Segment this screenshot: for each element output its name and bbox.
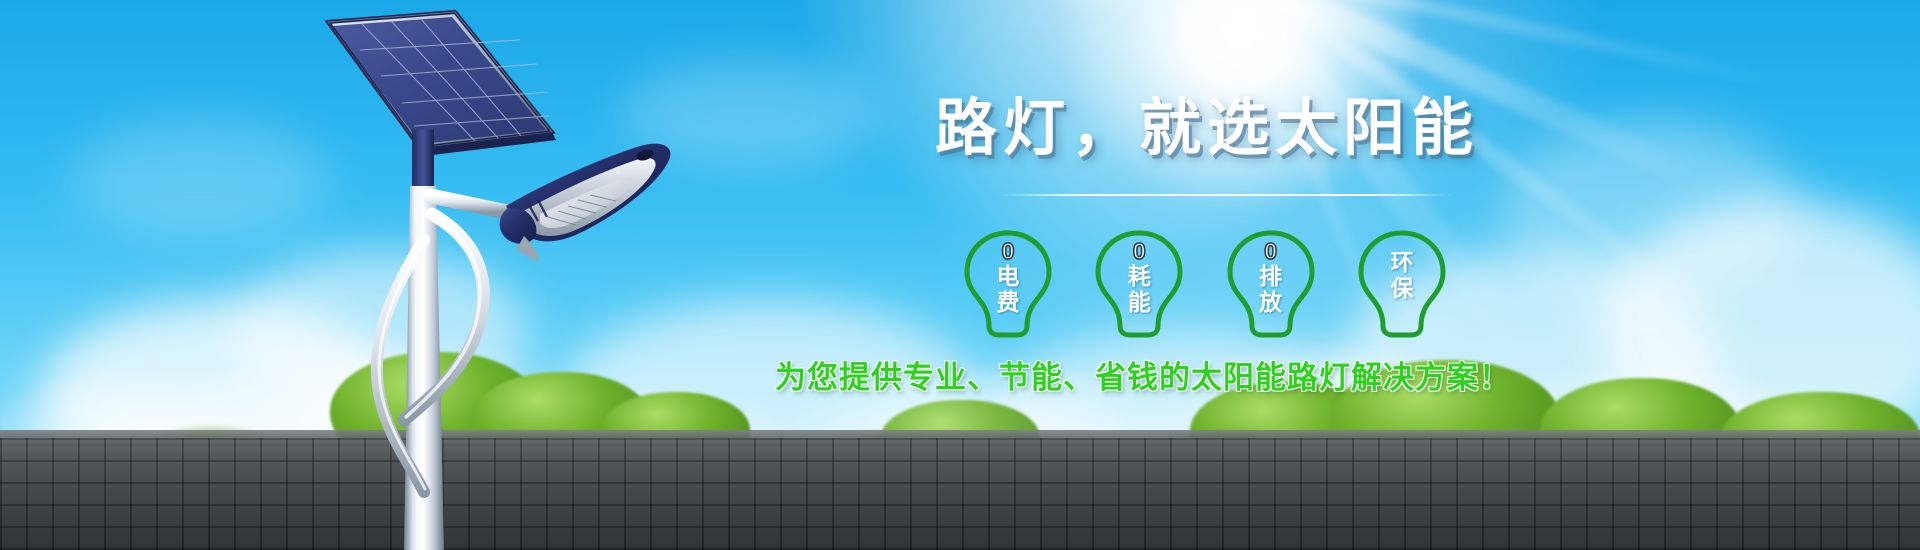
tagline: 为您提供专业、节能、省钱的太阳能路灯解决方案！ — [775, 352, 1511, 397]
page-title: 路灯，就选太阳能 — [935, 98, 1479, 160]
panel-mast — [412, 130, 434, 192]
led-lamp-head — [500, 144, 671, 262]
feature-bulb-list: 0 电 费 0 耗 能 0 排 放 — [955, 228, 1455, 338]
feature-bulb-zero-emission[interactable]: 0 排 放 — [1218, 228, 1324, 338]
solar-panel — [328, 12, 556, 156]
feature-bulb-eco-friendly[interactable]: 环 保 — [1349, 228, 1455, 338]
bulb-icon — [1218, 228, 1324, 338]
feature-bulb-zero-electric-bill[interactable]: 0 电 费 — [955, 228, 1061, 338]
title-divider — [998, 194, 1453, 196]
solar-street-light — [0, 0, 720, 550]
bulb-icon — [955, 228, 1061, 338]
lamp-arm — [377, 196, 508, 492]
feature-bulb-zero-energy-consumption[interactable]: 0 耗 能 — [1086, 228, 1192, 338]
bulb-icon — [1349, 228, 1455, 338]
solar-streetlight-banner: 路灯，就选太阳能 0 电 费 0 耗 能 — [0, 0, 1920, 550]
bulb-icon — [1086, 228, 1192, 338]
